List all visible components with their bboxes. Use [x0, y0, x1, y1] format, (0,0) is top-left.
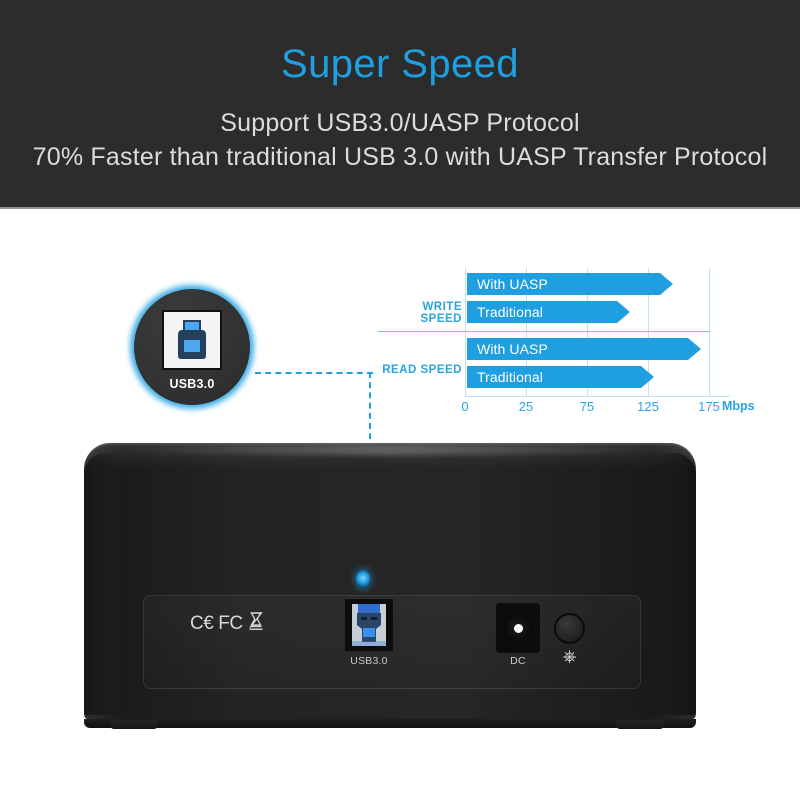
- usb-port: [345, 599, 393, 651]
- page-title: Super Speed: [0, 42, 800, 86]
- bar-tip: [660, 273, 673, 295]
- gridline-175: [709, 268, 710, 396]
- dc-power-jack: [496, 603, 540, 653]
- dc-jack-pin: [514, 624, 523, 633]
- gridline-0: [465, 268, 466, 396]
- power-button[interactable]: [554, 613, 585, 644]
- x-tick-175: 175: [698, 399, 720, 414]
- bar-read-traditional: Traditional: [467, 366, 641, 388]
- power-icon: ⎈: [554, 648, 585, 665]
- dock-foot-right: [616, 720, 664, 729]
- chart-unit-label: Mbps: [722, 399, 755, 413]
- led-indicator: [356, 570, 370, 588]
- group-separator-line: [378, 331, 710, 332]
- bar-label-read-uasp: With UASP: [467, 341, 548, 357]
- bar-tip: [617, 301, 630, 323]
- subtitle-line-2: 70% Faster than traditional USB 3.0 with…: [0, 142, 800, 172]
- subtitle-line-1: Support USB3.0/UASP Protocol: [0, 108, 800, 138]
- dock-foot-left: [110, 720, 158, 729]
- bar-tip: [688, 338, 701, 360]
- header-divider: [0, 207, 800, 209]
- x-tick-125: 125: [637, 399, 659, 414]
- bar-read-uasp: With UASP: [467, 338, 688, 360]
- x-tick-0: 0: [461, 399, 468, 414]
- leader-line-horizontal: [255, 372, 373, 374]
- usb-port-label: USB3.0: [321, 655, 417, 667]
- bar-label-read-traditional: Traditional: [467, 369, 543, 385]
- fcc-mark: FC: [218, 614, 242, 633]
- x-tick-75: 75: [580, 399, 594, 414]
- dock-top-highlight: [110, 445, 670, 455]
- certification-marks: C€ FC: [190, 610, 290, 636]
- dock-right-shading: [652, 453, 696, 715]
- product-marketing-image: Super Speed Support USB3.0/UASP Protocol…: [0, 0, 800, 800]
- bar-label-write-traditional: Traditional: [467, 304, 543, 320]
- usb-type-b-icon: [162, 310, 222, 370]
- weee-icon: [248, 611, 264, 636]
- chart-group-label-write: WRITE SPEED: [378, 301, 462, 325]
- chart-x-axis: [465, 396, 730, 397]
- header-band: [0, 0, 800, 207]
- bar-tip: [641, 366, 654, 388]
- ce-mark: C€: [190, 614, 213, 633]
- dc-jack-hole: [503, 613, 533, 643]
- bar-label-write-uasp: With UASP: [467, 276, 548, 292]
- bar-write-uasp: With UASP: [467, 273, 660, 295]
- callout-label: USB3.0: [130, 377, 254, 391]
- speed-comparison-chart: WRITE SPEED READ SPEED With UASP Traditi…: [378, 268, 768, 420]
- dock-left-shading: [84, 453, 120, 715]
- chart-group-label-read: READ SPEED: [378, 364, 462, 376]
- x-tick-25: 25: [519, 399, 533, 414]
- usb-callout-badge: USB3.0: [130, 285, 254, 409]
- dc-jack-label: DC: [484, 655, 552, 667]
- bar-write-traditional: Traditional: [467, 301, 617, 323]
- hard-drive-docking-station: C€ FC: [84, 443, 696, 728]
- dock-base-edge: [84, 719, 696, 728]
